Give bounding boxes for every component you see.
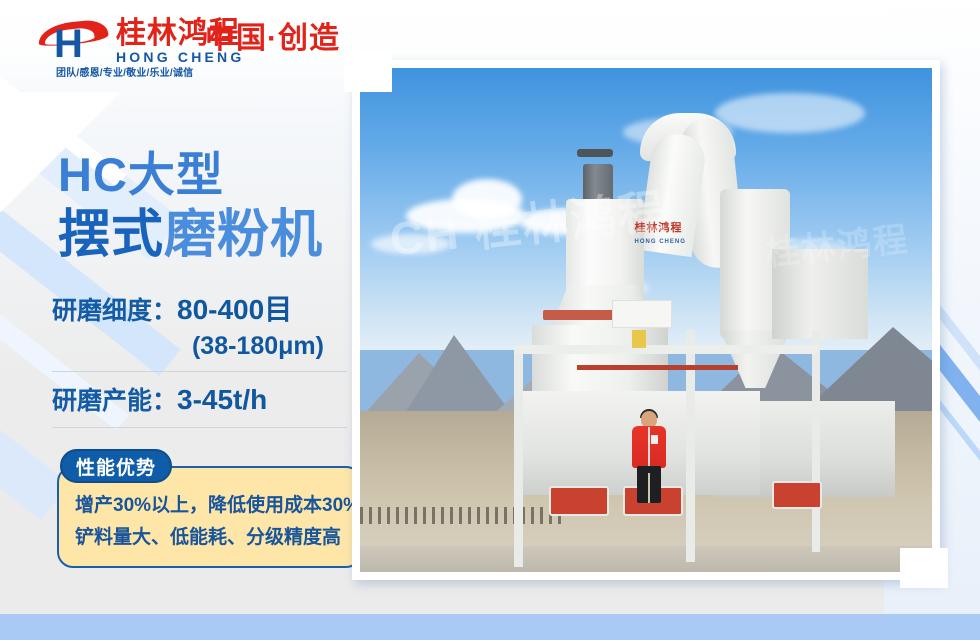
- logo-letter-h: H: [54, 24, 83, 64]
- machine-red-access-panel: [772, 481, 822, 509]
- machine-info-plate: [612, 300, 672, 328]
- spec-label-fineness: 研磨细度：: [52, 297, 177, 325]
- machine-frame-beam: [514, 345, 817, 354]
- spec-divider-1: [52, 371, 347, 372]
- spec-list: 研磨细度：80-400目 (38-180μm) 研磨产能：3-45t/h: [52, 292, 358, 428]
- promo-banner: H 桂林鸿程 HONG CHENG 团队/感恩/专业/敬业/乐业/诚信 中国·创…: [0, 0, 980, 640]
- machine-frame-column: [812, 330, 820, 552]
- spec-value-fineness: 80-400目: [177, 294, 292, 325]
- spec-sub-fineness: (38-180μm): [52, 329, 358, 363]
- machine-red-pipe: [577, 365, 737, 370]
- logo-slogan: 团队/感恩/专业/敬业/乐业/诚信: [56, 68, 193, 80]
- spec-value-capacity: 3-45t/h: [177, 384, 267, 415]
- advantage-tab-label: 性能优势: [60, 449, 172, 483]
- machine-red-access-panel: [549, 486, 609, 516]
- logo-mark-icon: H: [38, 20, 116, 66]
- photo-person: [632, 411, 666, 503]
- machine-motor: [583, 164, 613, 202]
- machine-brand-sign-en: HONG CHENG: [635, 239, 686, 245]
- headline-line-2-rest: 磨粉机: [164, 206, 323, 264]
- spec-label-capacity: 研磨产能：: [52, 387, 177, 415]
- person-jacket-zipper: [648, 427, 650, 467]
- machine-frame-column: [514, 345, 523, 567]
- person-badge: [651, 435, 658, 444]
- advantage-line-2: 铲料量大、低能耗、分级精度高: [75, 522, 355, 554]
- spec-row-capacity: 研磨产能：3-45t/h: [52, 382, 358, 419]
- advantage-text: 增产30%以上，降低使用成本30%， 铲料量大、低能耗、分级精度高: [75, 490, 355, 554]
- headline-block: HC大型 摆式磨粉机: [58, 148, 388, 266]
- photo-notch-bottom-right: [900, 548, 948, 588]
- headline-line-1: HC大型: [58, 148, 388, 202]
- photo-fence: [360, 507, 566, 523]
- machine-brand-sign-cn: 桂林鸿程: [635, 219, 683, 235]
- decor-bottom-band: [0, 614, 980, 640]
- headline-line-2: 摆式磨粉机: [58, 204, 388, 266]
- spec-row-fineness: 研磨细度：80-400目: [52, 292, 358, 329]
- made-in-china-text: 中国·创造: [205, 22, 340, 56]
- advantage-line-1: 增产30%以上，降低使用成本30%，: [75, 490, 355, 522]
- photo-concrete-pad: [360, 546, 932, 572]
- photo-notch-top-left: [344, 52, 392, 92]
- machine-warning-tag: [632, 330, 646, 348]
- person-leg-gap: [648, 473, 650, 503]
- machine-motor-cap: [577, 149, 613, 157]
- product-photo-frame: 桂林鸿程 HONG CHENG CH 桂林鸿程 桂林鸿程: [352, 60, 940, 580]
- spec-divider-2: [52, 427, 347, 428]
- machine-platform: [772, 249, 868, 339]
- headline-line-2-strong: 摆式: [58, 206, 164, 264]
- product-photo: 桂林鸿程 HONG CHENG CH 桂林鸿程 桂林鸿程: [360, 68, 932, 572]
- photo-cloud: [715, 93, 865, 133]
- photo-cloud: [452, 179, 522, 219]
